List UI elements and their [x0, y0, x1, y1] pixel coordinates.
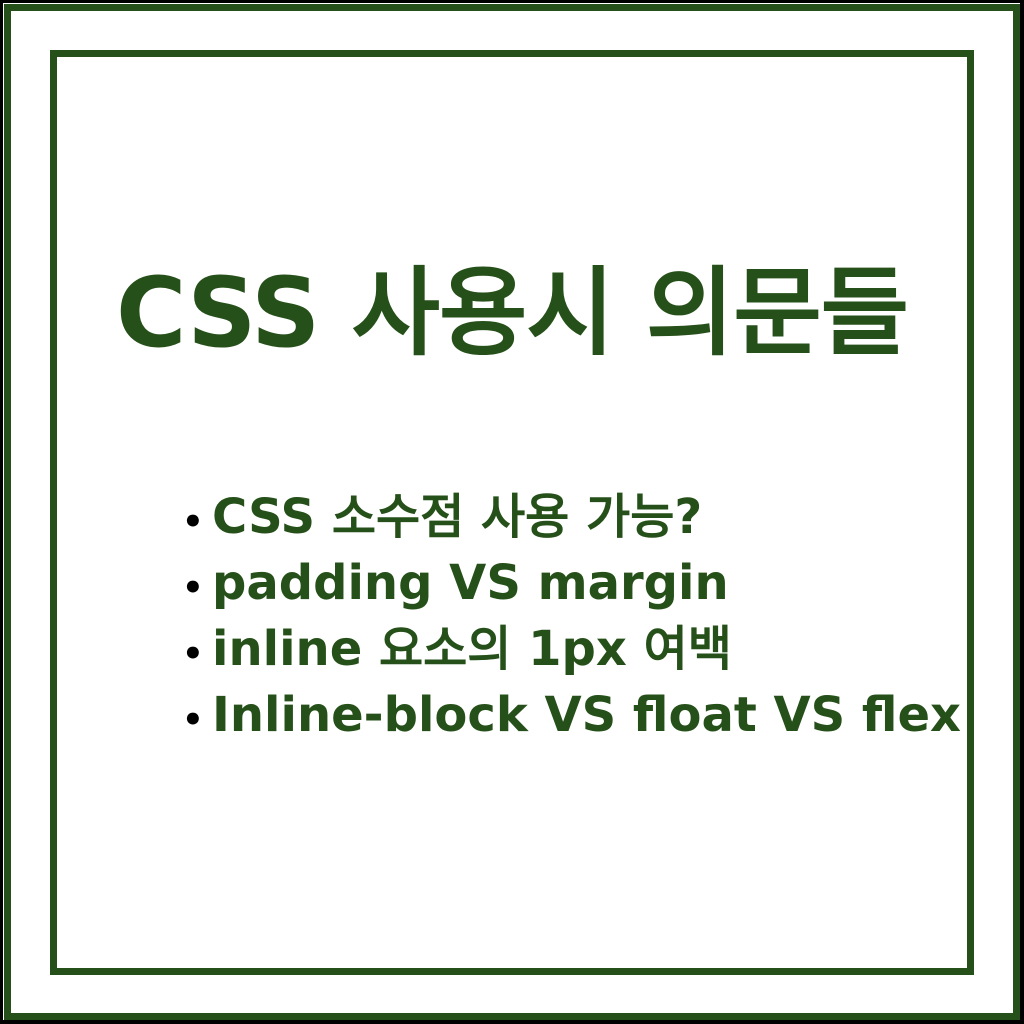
bullet-point-icon: •	[182, 489, 212, 555]
list-item: • padding VS margin	[182, 550, 972, 616]
list-item-label: inline 요소의 1px 여백	[212, 616, 732, 682]
presentation-slide: CSS 사용시 의문들 • CSS 소수점 사용 가능? • padding V…	[0, 0, 1024, 1024]
bullet-point-icon: •	[182, 555, 212, 621]
slide-content: CSS 사용시 의문들 • CSS 소수점 사용 가능? • padding V…	[0, 0, 1024, 1024]
list-item: • Inline-block VS float VS flex	[182, 682, 972, 748]
list-item-label: Inline-block VS float VS flex	[212, 682, 961, 748]
list-item: • CSS 소수점 사용 가능?	[182, 484, 972, 550]
bullet-point-icon: •	[182, 621, 212, 687]
bullet-list: • CSS 소수점 사용 가능? • padding VS margin • i…	[182, 484, 972, 748]
page-title: CSS 사용시 의문들	[0, 258, 1024, 368]
bullet-point-icon: •	[182, 687, 212, 753]
list-item: • inline 요소의 1px 여백	[182, 616, 972, 682]
list-item-label: padding VS margin	[212, 550, 729, 616]
list-item-label: CSS 소수점 사용 가능?	[212, 484, 702, 550]
